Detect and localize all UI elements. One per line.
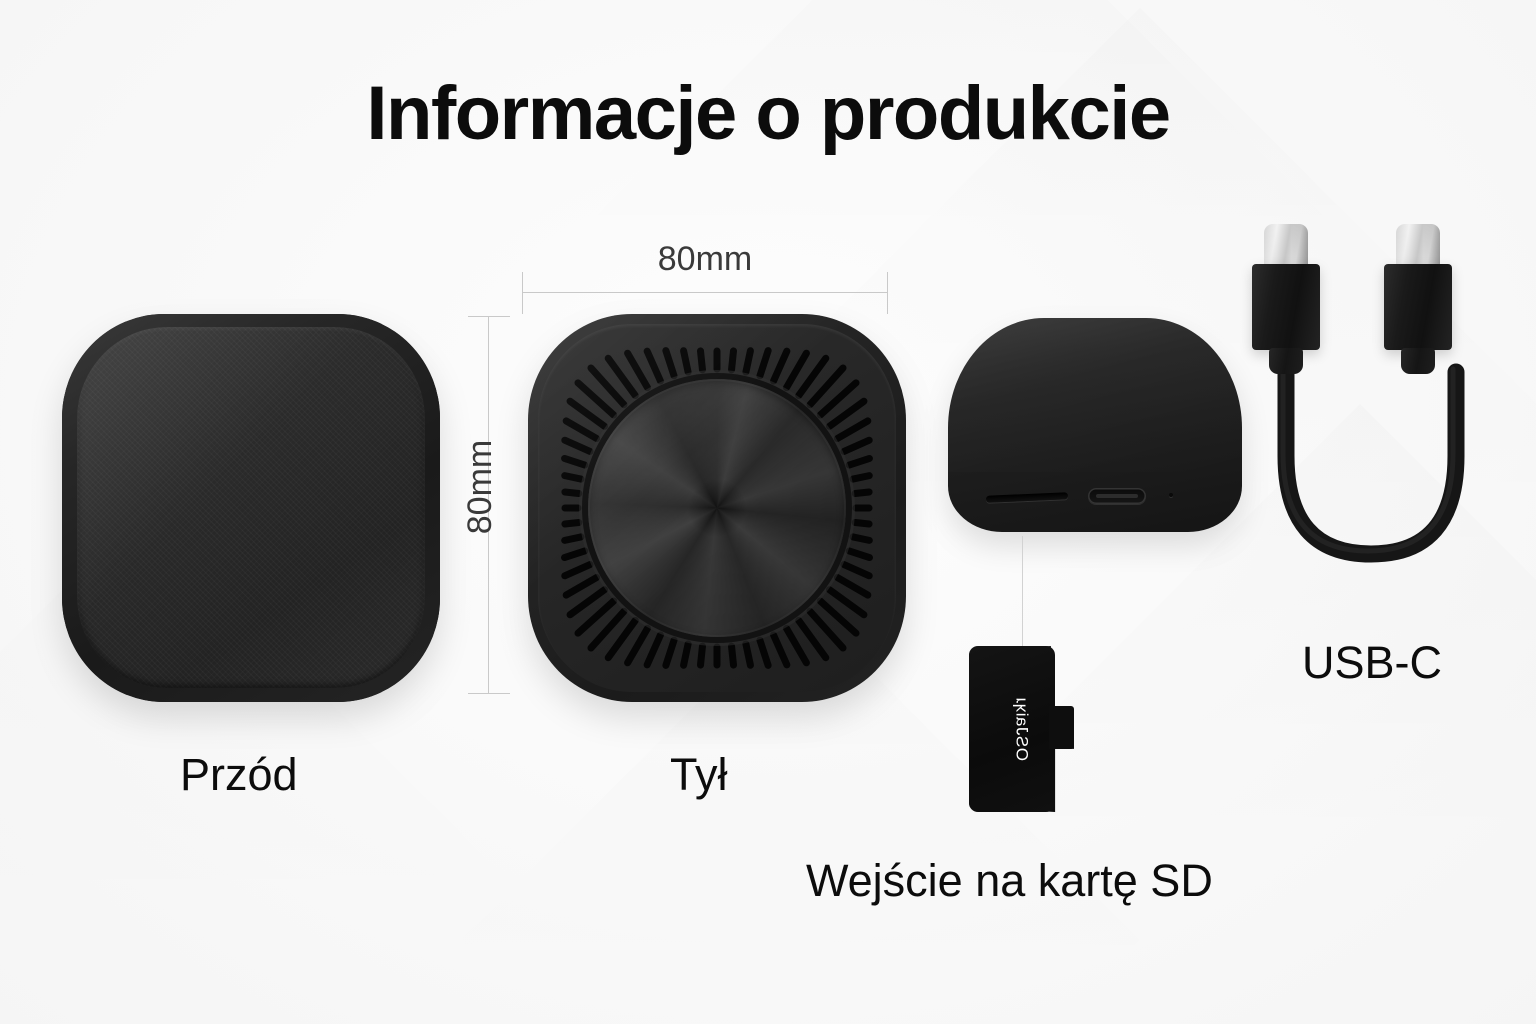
caption-front: Przód [180,752,298,797]
microsd-card-icon: OSJaiʞɹ [969,646,1074,812]
usb-c-connector-right-shell [1384,264,1452,350]
caption-sd-slot: Wejście na kartę SD [806,858,1213,903]
leader-line-icon [1022,536,1023,648]
usb-c-connector-right-boot [1401,348,1435,374]
microsd-card-label: OSJaiʞɹ [1013,697,1030,761]
caption-usb-c: USB-C [1302,640,1442,685]
front-sheen [77,327,425,688]
microsd-card-notch [1049,706,1074,749]
usb-c-connector-right-tip-shade [1396,224,1440,268]
dimension-line-horizontal-icon [522,292,888,293]
usb-c-cable-icon [1246,224,1496,598]
disc-highlight [588,379,846,637]
usb-c-connector-left-boot [1269,348,1303,374]
device-front-view [62,314,440,702]
dimension-height-label: 80mm [463,407,497,567]
device-side-view [948,318,1242,532]
brushed-metal-disc-icon [588,379,846,637]
dimension-cap-left [522,272,523,314]
dimension-cap-bottom [468,693,510,694]
dimension-width-label: 80mm [522,242,888,276]
dimension-cap-top [468,316,510,317]
caption-back: Tył [670,752,728,797]
device-back-view [528,314,906,702]
side-top-highlight [948,318,1242,472]
usb-c-connector-left-shell [1252,264,1320,350]
product-info-infographic: Informacje o produkcie OSJaiʞɹ [0,0,1536,1024]
usb-c-connector-left-tip-shade [1264,224,1308,268]
reset-pinhole-icon [1169,493,1173,497]
usb-c-port-tongue [1096,494,1138,498]
usb-c-port-icon [1088,488,1146,504]
page-title: Informacje o produkcie [0,76,1536,152]
dimension-cap-right [887,272,888,314]
sd-card-slot-icon [986,492,1068,503]
